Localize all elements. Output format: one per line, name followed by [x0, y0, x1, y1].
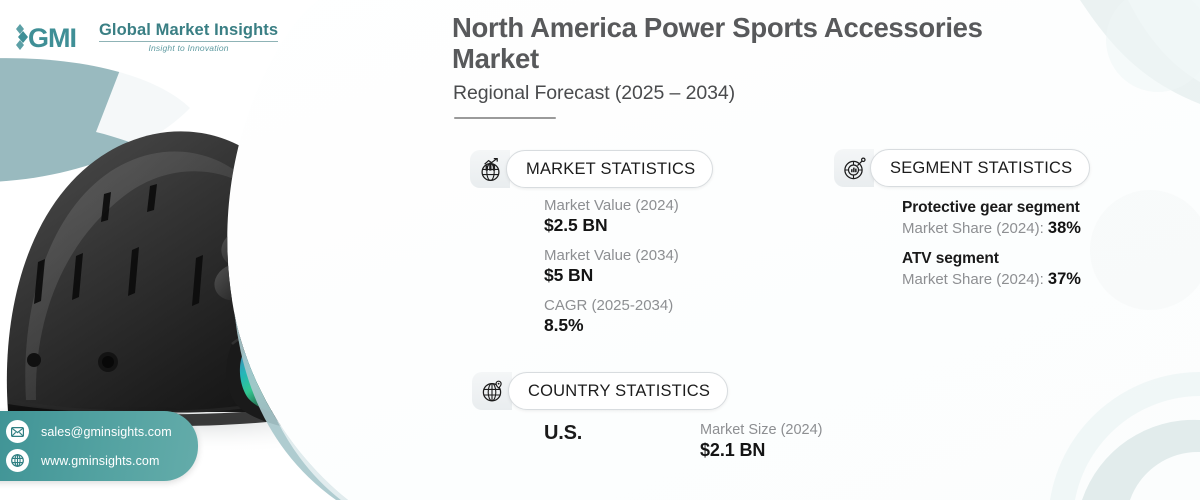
market-stat-value: $2.5 BN: [544, 215, 679, 236]
market-stat-row: Market Value (2034) $5 BN: [544, 247, 679, 286]
contact-website-row[interactable]: www.gminsights.com: [6, 449, 172, 472]
market-stat-label: Market Value (2034): [544, 247, 679, 264]
country-value-block: Market Size (2024) $2.1 BN: [700, 422, 823, 461]
contact-website-text: www.gminsights.com: [41, 454, 160, 468]
segment-statistics-heading[interactable]: SEGMENT STATISTICS: [834, 149, 1090, 187]
market-stat-row: CAGR (2025-2034) 8.5%: [544, 297, 679, 336]
globe-bar-chart-icon: [470, 150, 510, 188]
country-statistics-label: COUNTRY STATISTICS: [508, 372, 728, 410]
pie-chart-arrow-icon: [834, 149, 874, 187]
segment-share-label: Market Share (2024):: [902, 220, 1044, 237]
segment-share-line: Market Share (2024): 37%: [902, 270, 1081, 289]
market-statistics-label: MARKET STATISTICS: [506, 150, 713, 188]
market-statistics-heading[interactable]: MARKET STATISTICS: [470, 150, 713, 188]
market-statistics-list: Market Value (2024) $2.5 BN Market Value…: [544, 197, 679, 336]
segment-stat-row: ATV segment Market Share (2024): 37%: [902, 250, 1081, 289]
segment-statistics-list: Protective gear segment Market Share (20…: [902, 199, 1081, 289]
market-stat-value: 8.5%: [544, 315, 679, 336]
country-statistics-row: U.S. Market Size (2024) $2.1 BN: [544, 422, 823, 461]
country-stat-label: Market Size (2024): [700, 422, 823, 438]
segment-stat-row: Protective gear segment Market Share (20…: [902, 199, 1081, 238]
logo-tagline: Insight to Innovation: [99, 44, 278, 53]
globe-icon: [6, 449, 29, 472]
goggles-shape: [209, 200, 432, 433]
market-stat-value: $5 BN: [544, 265, 679, 286]
logo-divider: [99, 41, 278, 42]
segment-name: ATV segment: [902, 250, 1081, 268]
market-stat-label: CAGR (2025-2034): [544, 297, 679, 314]
market-stat-row: Market Value (2024) $2.5 BN: [544, 197, 679, 236]
segment-statistics-label: SEGMENT STATISTICS: [870, 149, 1090, 187]
country-name: U.S.: [544, 422, 700, 445]
segment-share-line: Market Share (2024): 38%: [902, 219, 1081, 238]
globe-pin-icon: [472, 372, 512, 410]
contact-badge: sales@gminsights.com www.gminsights.com: [0, 411, 198, 481]
country-stat-value: $2.1 BN: [700, 440, 823, 461]
brand-logo[interactable]: GMI Global Market Insights Insight to In…: [14, 20, 278, 54]
segment-share-label: Market Share (2024):: [902, 271, 1044, 288]
page-title: North America Power Sports Accessories M…: [452, 12, 1072, 75]
country-statistics-heading[interactable]: COUNTRY STATISTICS: [472, 372, 728, 410]
envelope-icon: [6, 420, 29, 443]
segment-share-value: 38%: [1048, 219, 1081, 237]
content-area: North America Power Sports Accessories M…: [452, 0, 1200, 500]
logo-company-name: Global Market Insights: [99, 22, 278, 39]
page-subtitle: Regional Forecast (2025 – 2034): [453, 82, 735, 105]
segment-share-value: 37%: [1048, 270, 1081, 288]
segment-name: Protective gear segment: [902, 199, 1081, 217]
title-divider: [454, 117, 556, 119]
market-stat-label: Market Value (2024): [544, 197, 679, 214]
contact-email-row[interactable]: sales@gminsights.com: [6, 420, 172, 443]
gmi-logo-mark-icon: GMI: [14, 20, 92, 54]
contact-email-text: sales@gminsights.com: [41, 425, 172, 439]
svg-text:GMI: GMI: [28, 23, 76, 53]
